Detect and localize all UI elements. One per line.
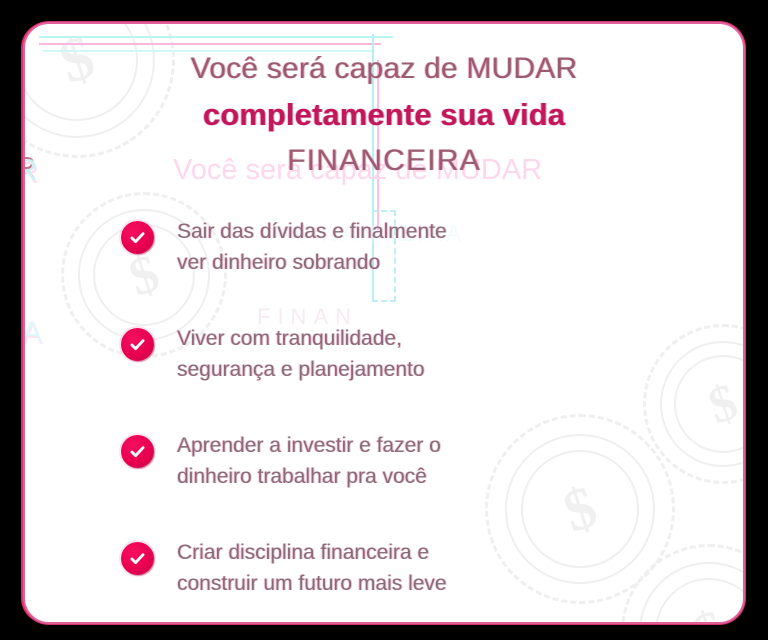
- list-item: Aprender a investir e fazer o dinheiro t…: [121, 430, 743, 537]
- check-circle-icon: [121, 328, 154, 361]
- benefit-list: Sair das dívidas e finalmente ver dinhei…: [25, 216, 743, 624]
- list-item-line-1: Viver com tranquilidade,: [177, 323, 425, 354]
- card-content: Você será capaz de MUDAR completamente s…: [25, 24, 743, 624]
- list-item-line-1: Aprender a investir e fazer o: [177, 430, 441, 461]
- check-circle-icon: [121, 221, 154, 254]
- check-circle-icon: [121, 542, 154, 575]
- list-item-line-1: Criar disciplina financeira e: [177, 537, 447, 568]
- list-item-line-2: construir um futuro mais leve: [177, 568, 447, 599]
- list-item-line-1: Sair das dívidas e finalmente: [177, 216, 447, 247]
- list-item-text: Aprender a investir e fazer o dinheiro t…: [177, 430, 441, 492]
- list-item-line-2: segurança e planejamento: [177, 354, 425, 385]
- list-item-text: Criar disciplina financeira e construir …: [177, 537, 447, 599]
- promo-card: $ $ $ $ $ az de MUDAR te s: [23, 22, 745, 624]
- list-item: Viver com tranquilidade, segurança e pla…: [121, 323, 743, 430]
- headline-line-2: completamente sua vida: [25, 97, 743, 133]
- list-item-text: Viver com tranquilidade, segurança e pla…: [177, 323, 425, 385]
- list-item-line-2: dinheiro trabalhar pra você: [177, 461, 441, 492]
- list-item-text: Sair das dívidas e finalmente ver dinhei…: [177, 216, 447, 278]
- list-item: Sair das dívidas e finalmente ver dinhei…: [121, 216, 743, 323]
- check-circle-icon: [121, 435, 154, 468]
- headline-line-1: Você será capaz de MUDAR: [25, 52, 743, 86]
- headline-line-3: FINANCEIRA: [25, 144, 743, 178]
- list-item: Criar disciplina financeira e construir …: [121, 537, 743, 624]
- headline-block: Você será capaz de MUDAR completamente s…: [25, 52, 743, 178]
- list-item-line-2: ver dinheiro sobrando: [177, 247, 447, 278]
